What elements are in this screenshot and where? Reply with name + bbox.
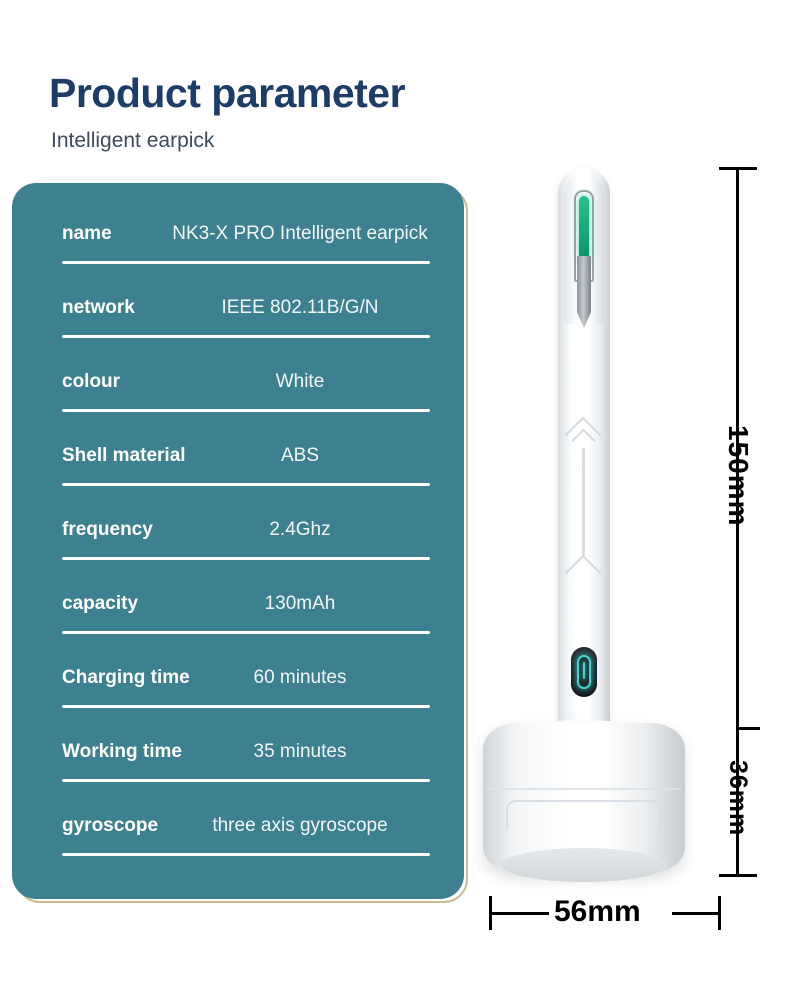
spec-panel: nameNK3-X PRO Intelligent earpicknetwork… <box>12 183 464 899</box>
spec-row-value: White <box>170 365 430 399</box>
spec-row: networkIEEE 802.11B/G/N <box>62 291 430 365</box>
spec-row-divider <box>62 557 430 560</box>
spec-row-value: 130mAh <box>170 587 430 621</box>
spec-row: capacity130mAh <box>62 587 430 661</box>
dim-line-width-left <box>489 912 549 915</box>
dim-line-width-right <box>672 912 720 915</box>
spec-row: Shell materialABS <box>62 439 430 513</box>
spec-row-value: ABS <box>170 439 430 473</box>
dim-tick-base-bottom <box>719 874 757 877</box>
dim-tick-base-top <box>736 727 760 730</box>
dim-label-base-width: 56mm <box>554 895 641 929</box>
page-title: Product parameter <box>49 70 405 117</box>
spec-row-divider <box>62 853 430 856</box>
spec-row-divider <box>62 335 430 338</box>
spec-row-label: Shell material <box>62 439 170 473</box>
dock-contour-line <box>506 800 662 830</box>
spec-row: colourWhite <box>62 365 430 439</box>
dim-tick-width-right <box>718 896 721 930</box>
dim-label-total-height: 150mm <box>722 425 754 527</box>
dim-label-base-height: 36mm <box>723 760 752 836</box>
spec-row-value: 35 minutes <box>170 735 430 769</box>
spec-row-label: Working time <box>62 735 170 769</box>
spec-row-divider <box>62 261 430 264</box>
shaft-center-groove <box>582 448 585 556</box>
spec-row-divider <box>62 705 430 708</box>
spec-row: frequency2.4Ghz <box>62 513 430 587</box>
spec-row: Working time35 minutes <box>62 735 430 809</box>
spec-row-label: frequency <box>62 513 170 547</box>
dock-foot <box>501 848 667 882</box>
product-illustration <box>470 160 730 905</box>
spec-row-label: network <box>62 291 170 325</box>
spec-row-value: three axis gyroscope <box>170 809 430 843</box>
spec-row-value: NK3-X PRO Intelligent earpick <box>170 217 430 251</box>
spec-row-label: colour <box>62 365 170 399</box>
spec-row-label: name <box>62 217 170 251</box>
spec-row-divider <box>62 631 430 634</box>
spec-row-value: 60 minutes <box>170 661 430 695</box>
earpick-tip-led-glow <box>579 196 589 260</box>
spec-row-divider <box>62 409 430 412</box>
spec-row-label: Charging time <box>62 661 170 695</box>
spec-row: nameNK3-X PRO Intelligent earpick <box>62 217 430 291</box>
spec-row: gyroscopethree axis gyroscope <box>62 809 430 883</box>
spec-row-label: gyroscope <box>62 809 170 843</box>
page-subtitle: Intelligent earpick <box>51 129 214 153</box>
spec-row-value: 2.4Ghz <box>170 513 430 547</box>
spec-table: nameNK3-X PRO Intelligent earpicknetwork… <box>12 217 464 883</box>
spec-row-label: capacity <box>62 587 170 621</box>
spec-row: Charging time60 minutes <box>62 661 430 735</box>
spec-row-divider <box>62 779 430 782</box>
spec-row-value: IEEE 802.11B/G/N <box>170 291 430 325</box>
power-icon <box>577 655 591 689</box>
spec-row-divider <box>62 483 430 486</box>
